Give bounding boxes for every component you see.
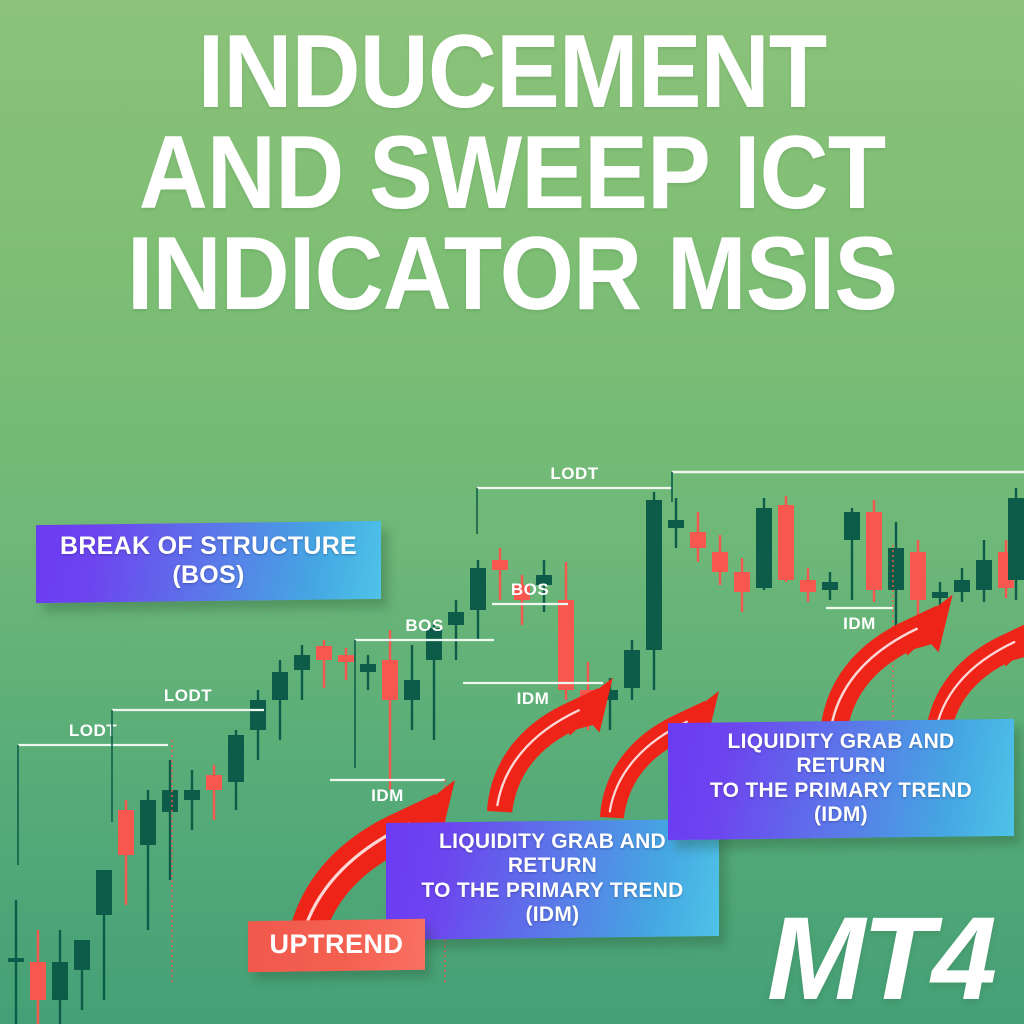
callout-bos-line-1: BREAK OF STRUCTURE (50, 532, 367, 561)
callout-break-of-structure[interactable]: BREAK OF STRUCTURE (BOS) (36, 521, 381, 603)
arrow-2-icon (487, 678, 613, 813)
platform-wordmark: MT4 (767, 900, 994, 1018)
callout-idm-lower-line-1: LIQUIDITY GRAB AND RETURN (400, 830, 705, 879)
callout-idm-upper-line-1: LIQUIDITY GRAB AND RETURN (682, 730, 1000, 779)
page-title: INDUCEMENT AND SWEEP ICT INDICATOR MSIS (0, 22, 1024, 325)
title-line-2: AND SWEEP ICT (41, 123, 983, 224)
callout-idm-lower-line-2: TO THE PRIMARY TREND (IDM) (400, 879, 705, 928)
callout-bos-line-2: (BOS) (50, 561, 367, 590)
callout-liquidity-grab-upper[interactable]: LIQUIDITY GRAB AND RETURN TO THE PRIMARY… (668, 719, 1014, 841)
uptrend-badge[interactable]: UPTREND (248, 919, 425, 972)
callout-idm-upper-line-2: TO THE PRIMARY TREND (IDM) (682, 779, 1000, 828)
title-line-1: INDUCEMENT (41, 22, 983, 123)
poster-canvas: INDUCEMENT AND SWEEP ICT INDICATOR MSIS … (0, 0, 1024, 1024)
title-line-3: INDICATOR MSIS (41, 224, 983, 325)
uptrend-badge-label: UPTREND (256, 929, 417, 960)
